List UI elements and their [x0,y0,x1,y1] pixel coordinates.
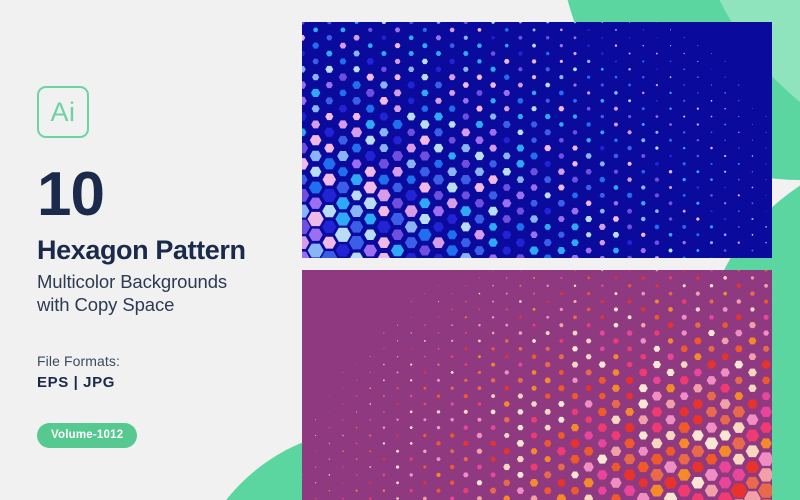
ai-format-badge: Ai [37,86,89,138]
file-formats-label: File Formats: [37,353,287,369]
page-title: Hexagon Pattern [37,235,287,265]
subtitle-line-1: Multicolor Backgrounds [37,270,287,293]
blue-hexagon-preview[interactable] [302,22,772,258]
subtitle-line-2: with Copy Space [37,293,287,316]
volume-badge: Volume-1012 [37,423,137,448]
pink-hexagon-preview[interactable] [302,270,772,500]
pink-hexagon-pattern [302,270,772,500]
file-formats-value: EPS | JPG [37,374,287,391]
blue-hexagon-pattern [302,22,772,258]
page-subtitle: Multicolor Backgrounds with Copy Space [37,270,287,317]
ai-badge-label: Ai [50,99,75,126]
info-panel: Ai 10 Hexagon Pattern Multicolor Backgro… [37,86,287,448]
item-count: 10 [37,166,287,225]
file-formats-block: File Formats: EPS | JPG [37,353,287,391]
preview-canvas: Ai 10 Hexagon Pattern Multicolor Backgro… [0,0,800,500]
